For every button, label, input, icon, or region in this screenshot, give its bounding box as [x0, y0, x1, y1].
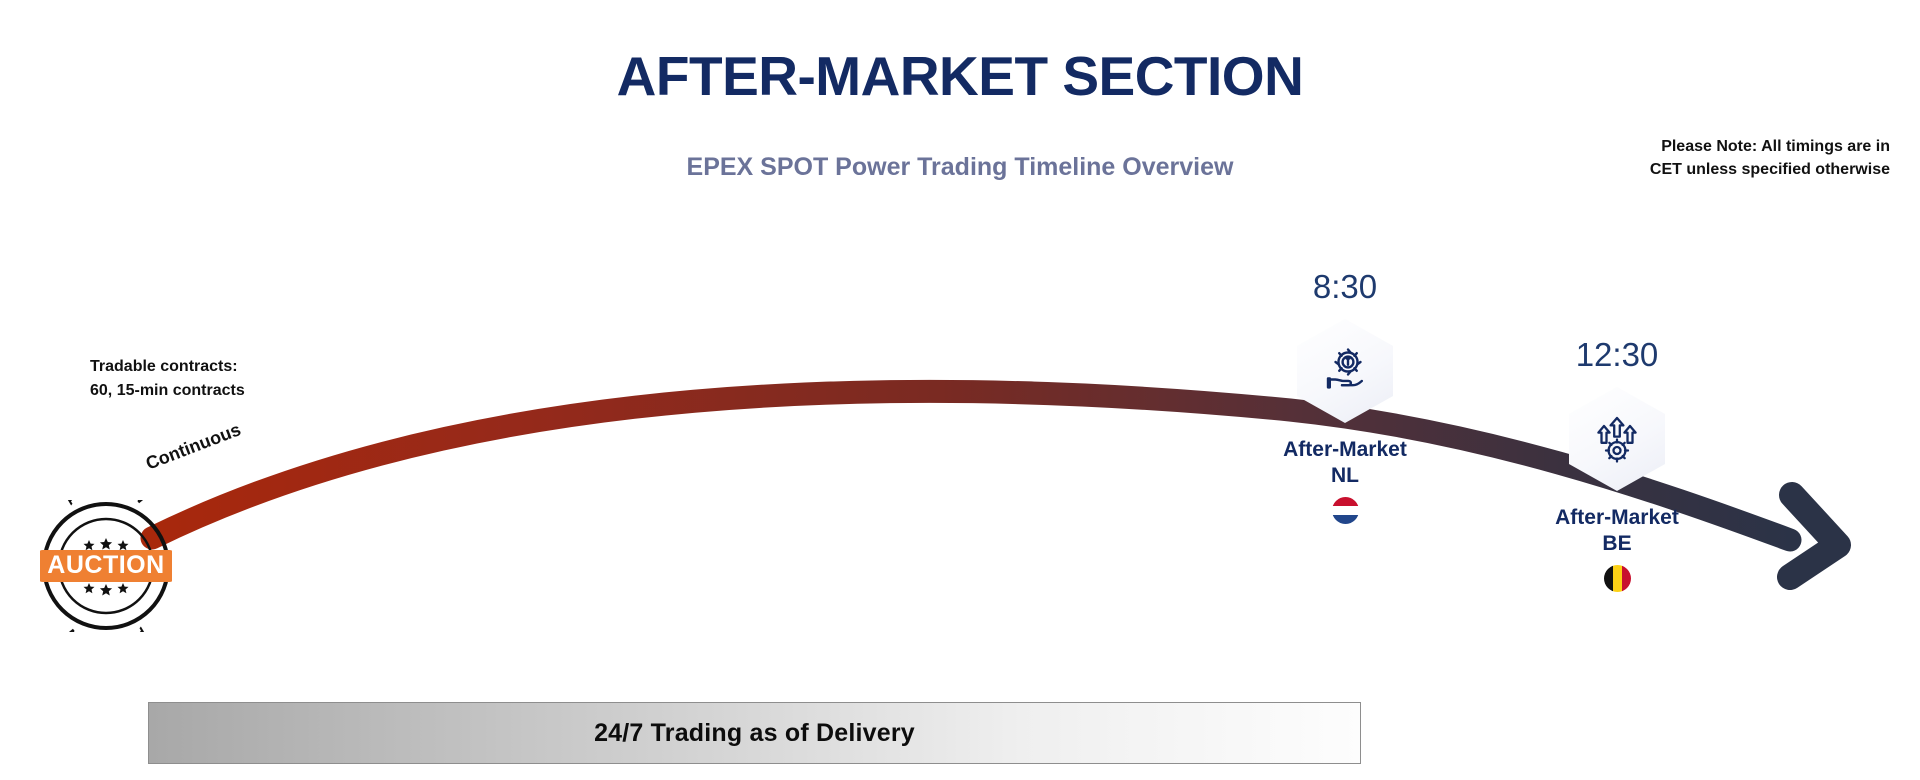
- flag-nl-icon: [1332, 497, 1359, 524]
- continuous-trading-bar-label: 24/7 Trading as of Delivery: [594, 719, 915, 748]
- timeline-infographic: AFTER-MARKET SECTION EPEX SPOT Power Tra…: [0, 0, 1920, 780]
- milestone-nl-label-line-2: NL: [1215, 463, 1475, 489]
- milestone-be-label-line-1: After-Market: [1487, 505, 1747, 531]
- hand-holding-gear-icon: [1297, 319, 1393, 423]
- auction-stamp-banner-label: AUCTION: [47, 551, 164, 579]
- flag-be-icon: [1604, 565, 1631, 592]
- tradable-contracts-note: Tradable contracts: 60, 15-min contracts: [90, 355, 245, 403]
- milestone-after-market-nl[interactable]: 8:30 After-Market NL: [1215, 270, 1475, 524]
- stamp-stars-top: [84, 538, 129, 550]
- tradable-contracts-line-2: 60, 15-min contracts: [90, 379, 245, 403]
- milestone-be-label-line-2: BE: [1487, 531, 1747, 557]
- milestone-be-label: After-Market BE: [1487, 505, 1747, 556]
- tradable-contracts-line-1: Tradable contracts:: [90, 355, 245, 379]
- milestone-nl-time: 8:30: [1215, 270, 1475, 303]
- milestone-nl-label: After-Market NL: [1215, 437, 1475, 488]
- milestone-after-market-be[interactable]: 12:30 After-Market BE: [1487, 338, 1747, 592]
- auction-stamp-icon: AUCTION AUCTION AUCTION: [40, 500, 172, 632]
- continuous-trading-bar: 24/7 Trading as of Delivery: [148, 702, 1361, 764]
- arrows-up-gear-icon: [1569, 387, 1665, 491]
- milestone-be-time: 12:30: [1487, 338, 1747, 371]
- milestone-nl-label-line-1: After-Market: [1215, 437, 1475, 463]
- stamp-stars-bottom: [84, 583, 129, 596]
- milestone-nl-marker[interactable]: [1297, 319, 1393, 423]
- milestone-be-marker[interactable]: [1569, 387, 1665, 491]
